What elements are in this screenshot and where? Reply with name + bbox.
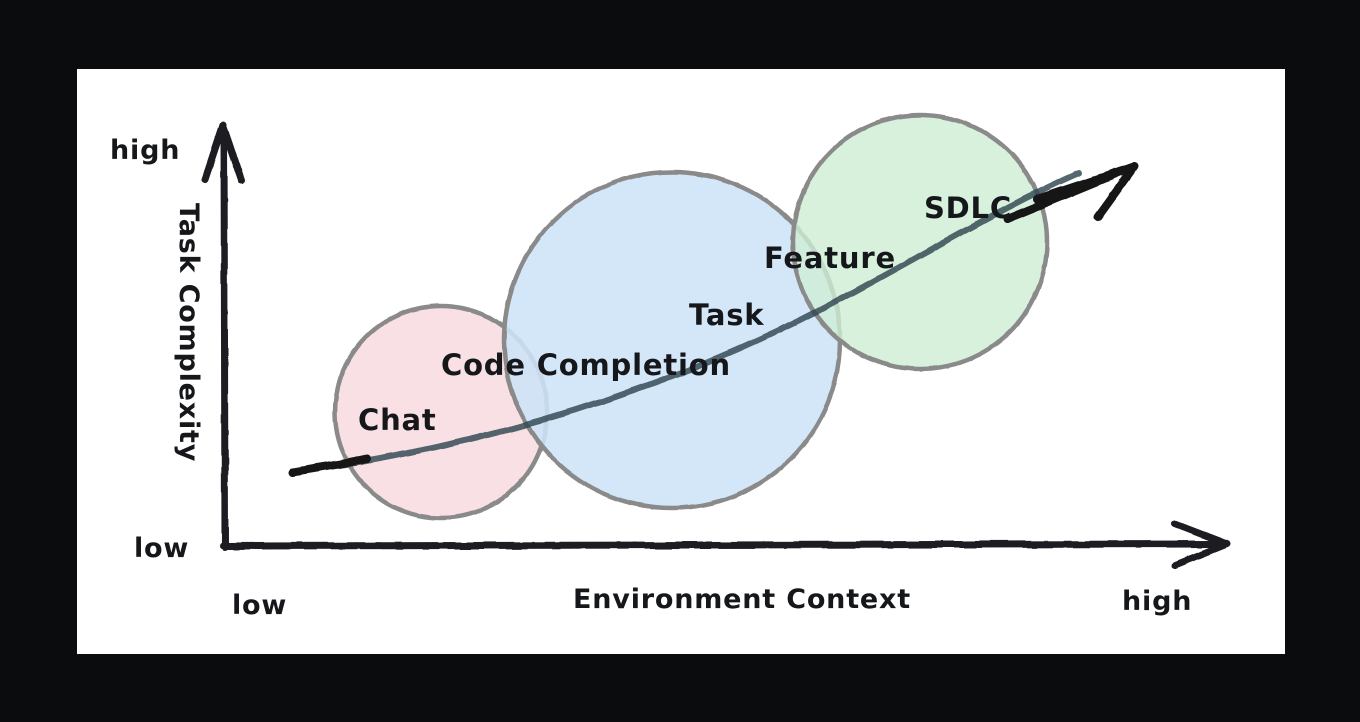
y-axis-low-label: low bbox=[134, 533, 189, 564]
diagram-canvas-panel: high low Task Complexity low Environment… bbox=[77, 69, 1285, 654]
x-axis-low-label: low bbox=[232, 590, 287, 621]
bubble-label-feature: Feature bbox=[764, 241, 896, 275]
x-axis-line bbox=[223, 544, 1223, 546]
bubble-label-sdlc: SDLC bbox=[924, 191, 1012, 225]
bubble-label-code-completion: Code Completion bbox=[441, 348, 731, 382]
bubble-task[interactable] bbox=[504, 172, 840, 508]
y-axis-line bbox=[224, 131, 225, 547]
bubble-label-task: Task bbox=[689, 298, 764, 332]
y-axis-title: Task Complexity bbox=[173, 203, 204, 462]
quadrant-bubble-diagram: high low Task Complexity low Environment… bbox=[77, 69, 1285, 654]
screen-root: high low Task Complexity low Environment… bbox=[0, 0, 1360, 722]
x-axis-high-label: high bbox=[1122, 586, 1192, 617]
y-axis-high-label: high bbox=[110, 135, 180, 166]
bubble-task-shape bbox=[504, 172, 840, 508]
x-axis-title: Environment Context bbox=[573, 584, 911, 615]
bubble-label-chat: Chat bbox=[358, 403, 437, 437]
